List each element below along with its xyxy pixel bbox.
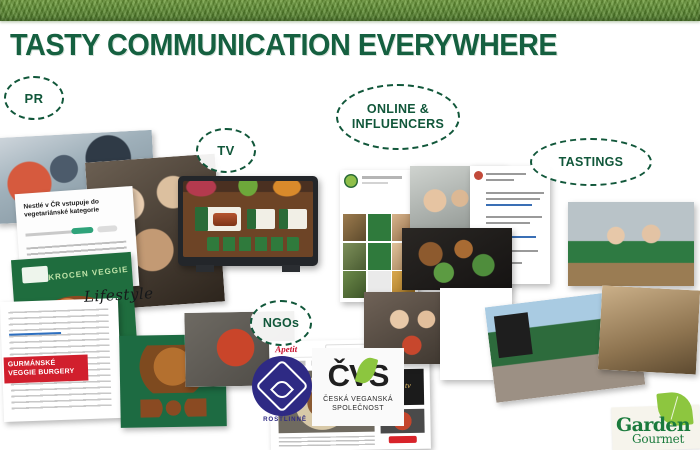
- tv-mockup: [178, 176, 318, 266]
- comment-line: [486, 222, 530, 224]
- badge-online-influencers[interactable]: ONLINE & INFLUENCERS: [336, 84, 460, 150]
- comment-link-line: [486, 204, 532, 206]
- tv-burger-patty: [213, 213, 237, 226]
- badge-pr[interactable]: PR: [4, 76, 64, 120]
- website-body-text: [279, 436, 375, 448]
- leaf-icon: [354, 355, 378, 386]
- photo-fill: [402, 228, 512, 290]
- grid-thumb: [368, 214, 391, 241]
- profile-name-line: [362, 176, 402, 179]
- rostlinne-caption: ROSTLINNĚ: [250, 416, 320, 423]
- grass-banner: [0, 0, 700, 21]
- profile-handle-line: [362, 182, 388, 184]
- tasting-stand-photo: [568, 202, 694, 286]
- tv-pack-label-c: [279, 209, 288, 229]
- garden-gourmet-logo: Garden Gourmet: [612, 392, 700, 450]
- lifestyle-handwritten-label: Lifestyle: [84, 284, 154, 306]
- pack-brand-label: [22, 266, 49, 284]
- tv-stand-left: [196, 265, 214, 272]
- influencer-food-photo: [402, 228, 512, 290]
- website-cta-button[interactable]: [389, 436, 417, 443]
- tv-pack-label-b: [247, 209, 256, 229]
- comment-line: [486, 198, 540, 200]
- cvs-logo: ČVS ČESKÁ VEGANSKÁ SPOLEČNOST: [312, 348, 404, 426]
- rostlinne-diamond-icon: [255, 359, 309, 413]
- grid-thumb: [343, 243, 366, 270]
- brand-name-line-2: Gourmet: [632, 432, 684, 446]
- pack-product-name: KROCEN VEGGIE: [48, 265, 129, 282]
- article-tag-secondary: [97, 225, 117, 232]
- comment-line: [486, 179, 514, 181]
- grid-thumb: [368, 243, 391, 270]
- badge-tv[interactable]: TV: [196, 128, 256, 173]
- cvs-subtitle-line-2: SPOLEČNOST: [323, 404, 393, 413]
- comment-line: [486, 173, 526, 175]
- photo-fill: [568, 202, 694, 286]
- comment-avatar: [474, 171, 483, 180]
- badge-ngos[interactable]: NGOs: [250, 300, 312, 346]
- pack-patties: [140, 398, 206, 417]
- profile-avatar: [344, 174, 358, 188]
- grid-thumb: [343, 214, 366, 241]
- article-tag-primary: [71, 227, 93, 235]
- badge-online-label: ONLINE & INFLUENCERS: [352, 102, 444, 132]
- cvs-wordmark: ČVS: [328, 361, 389, 391]
- photo-fill: [598, 285, 700, 374]
- rostlinne-emblem: [252, 356, 312, 416]
- tv-product-row: [207, 237, 299, 251]
- cvs-subtitle-line-1: ČESKÁ VEGANSKÁ: [323, 395, 393, 404]
- article-headline: Nestlé v ČR vstupuje do vegetariánské ka…: [23, 197, 124, 220]
- magazine-headline: GURMÁNSKÉ VEGGIE BURGERY: [4, 355, 89, 384]
- badge-online-line-2: INFLUENCERS: [352, 117, 444, 131]
- cvs-subtitle: ČESKÁ VEGANSKÁ SPOLEČNOST: [323, 395, 393, 413]
- badge-online-line-1: ONLINE &: [367, 102, 429, 116]
- tasting-venue-photo: [598, 285, 700, 374]
- badge-tastings[interactable]: TASTINGS: [530, 138, 652, 186]
- comment-line: [486, 192, 544, 194]
- grid-thumb: [343, 271, 366, 298]
- presentation-slide: TASTY COMMUNICATION EVERYWHERE Nestlé v …: [0, 0, 700, 450]
- tv-pack-label-a: [195, 207, 208, 231]
- tv-screen-content: [183, 181, 313, 257]
- comment-line: [486, 216, 542, 218]
- page-title: TASTY COMMUNICATION EVERYWHERE: [10, 28, 557, 62]
- tv-stand-right: [282, 265, 300, 272]
- rostlinne-logo: ROSTLINNĚ: [252, 356, 318, 422]
